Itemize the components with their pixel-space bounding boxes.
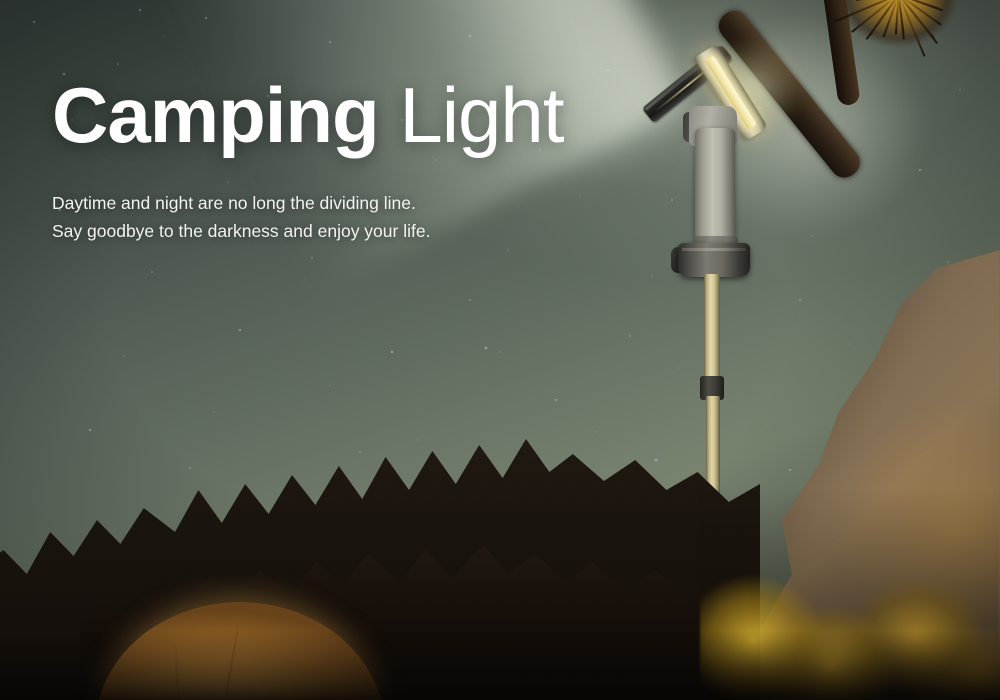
subtitle: Daytime and night are no long the dividi…	[52, 189, 672, 246]
joshua-tree-branch	[712, 0, 918, 208]
headline-bold: Camping	[52, 71, 379, 159]
tree-spikes	[818, 0, 977, 65]
page-title: Camping Light	[52, 74, 672, 157]
subtitle-line-2: Say goodbye to the darkness and enjoy yo…	[52, 217, 672, 245]
headline-light: Light	[399, 71, 563, 159]
subtitle-line-1: Daytime and night are no long the dividi…	[52, 189, 672, 217]
ground-shadow	[0, 630, 1000, 700]
camping-light-banner: Camping Light Daytime and night are no l…	[0, 0, 1000, 700]
banner-copy: Camping Light Daytime and night are no l…	[52, 74, 672, 245]
